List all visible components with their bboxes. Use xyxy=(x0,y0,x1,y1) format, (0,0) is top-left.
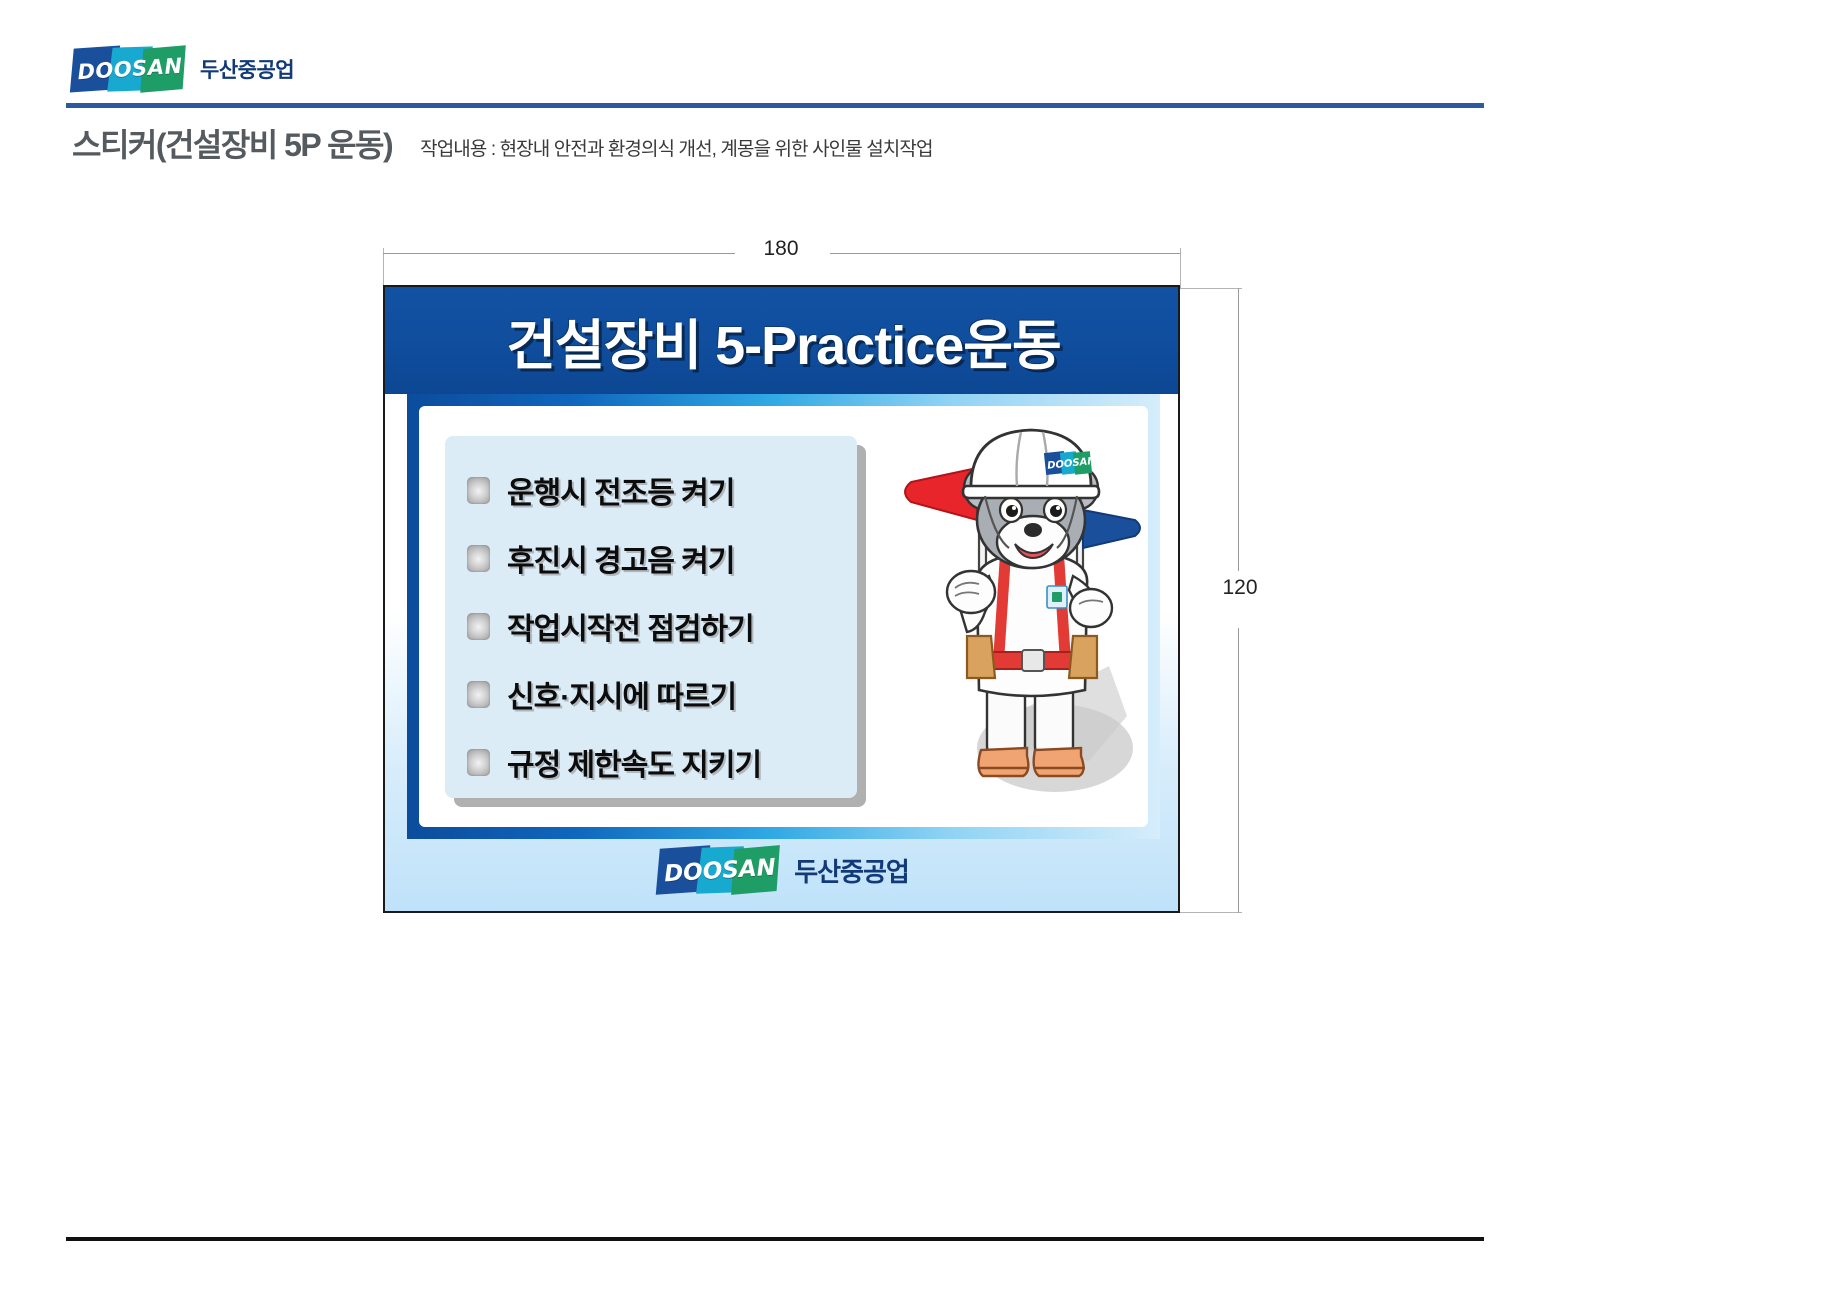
brand-block: DOOSAN 두산중공업 xyxy=(72,47,294,91)
rule-item: 규정 제한속도 지키기 xyxy=(467,728,857,796)
title-row: 스티커(건설장비 5P 운동) 작업내용 : 현장내 안전과 환경의식 개선, … xyxy=(72,120,1372,168)
footer-divider xyxy=(66,1237,1484,1241)
dimension-label-height: 120 xyxy=(1218,576,1262,600)
sticker-poster: 건설장비 5-Practice운동 운행시 전조등 켜기 후진시 경고음 켜기 … xyxy=(383,285,1180,913)
page-header: DOOSAN 두산중공업 xyxy=(0,0,1844,118)
poster-title-band: 건설장비 5-Practice운동 xyxy=(385,287,1180,394)
dimension-line-bottom-segment xyxy=(1238,628,1239,913)
dimension-extension-upper xyxy=(1180,288,1242,289)
rule-label: 후진시 경고음 켜기 xyxy=(507,536,734,580)
dimension-line-top-segment xyxy=(1238,288,1239,571)
dimension-line-height: 120 xyxy=(1238,288,1240,913)
rule-item: 후진시 경고음 켜기 xyxy=(467,524,857,592)
rules-card: 운행시 전조등 켜기 후진시 경고음 켜기 작업시작전 점검하기 신호·지시에 … xyxy=(445,436,857,798)
dimension-extension-right-top xyxy=(1180,248,1181,288)
bullet-square-icon xyxy=(467,545,490,572)
doosan-logo-icon: DOOSAN xyxy=(72,47,184,91)
dimension-label-width: 180 xyxy=(741,237,821,261)
bullet-square-icon xyxy=(467,477,490,504)
bullet-square-icon xyxy=(467,749,490,776)
dimension-line-width: 180 xyxy=(383,253,1180,255)
header-divider xyxy=(66,103,1484,108)
poster-inner-panel: 운행시 전조등 켜기 후진시 경고음 켜기 작업시작전 점검하기 신호·지시에 … xyxy=(419,406,1148,827)
rule-label: 작업시작전 점검하기 xyxy=(507,604,754,648)
rule-label: 규정 제한속도 지키기 xyxy=(507,740,761,784)
rule-item: 신호·지시에 따르기 xyxy=(467,660,857,728)
dimension-line-left-segment xyxy=(383,253,735,254)
poster-footer: DOOSAN 두산중공업 xyxy=(385,847,1180,893)
dimension-line-right-segment xyxy=(830,253,1180,254)
safety-worker-mascot-icon: DOOSAN xyxy=(859,416,1159,816)
page-title: 스티커(건설장비 5P 운동) xyxy=(72,120,392,166)
dimension-extension-lower xyxy=(1180,912,1242,913)
rule-item: 작업시작전 점검하기 xyxy=(467,592,857,660)
rule-item: 운행시 전조등 켜기 xyxy=(467,456,857,524)
rule-label: 신호·지시에 따르기 xyxy=(507,672,736,716)
bullet-square-icon xyxy=(467,681,490,708)
poster-body: 운행시 전조등 켜기 후진시 경고음 켜기 작업시작전 점검하기 신호·지시에 … xyxy=(407,394,1160,839)
bullet-square-icon xyxy=(467,613,490,640)
doosan-logo-icon: DOOSAN xyxy=(658,847,778,893)
poster-company-name: 두산중공업 xyxy=(794,852,909,889)
poster-title: 건설장비 5-Practice운동 xyxy=(506,301,1060,380)
page-subtitle: 작업내용 : 현장내 안전과 환경의식 개선, 계몽을 위한 사인물 설치작업 xyxy=(420,134,932,161)
company-name: 두산중공업 xyxy=(200,54,294,84)
rule-label: 운행시 전조등 켜기 xyxy=(507,468,734,512)
